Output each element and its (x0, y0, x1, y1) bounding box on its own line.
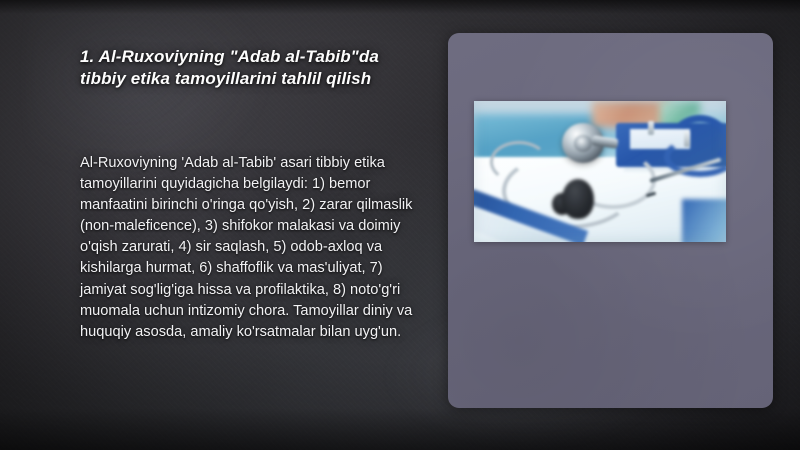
image-panel (448, 33, 773, 408)
photo-soft-edge (474, 101, 726, 242)
slide-body-text: Al-Ruxoviyning 'Adab al-Tabib' asari tib… (80, 153, 420, 343)
stethoscope-on-clipboard-photo (474, 101, 726, 242)
slide-canvas: 1. Al-Ruxoviyning "Adab al-Tabib"da tibb… (0, 0, 800, 450)
background-bottom-shade (0, 408, 800, 450)
text-column: 1. Al-Ruxoviyning "Adab al-Tabib"da tibb… (80, 46, 428, 91)
slide-title: 1. Al-Ruxoviyning "Adab al-Tabib"da tibb… (80, 46, 428, 91)
background-top-shade (0, 0, 800, 14)
